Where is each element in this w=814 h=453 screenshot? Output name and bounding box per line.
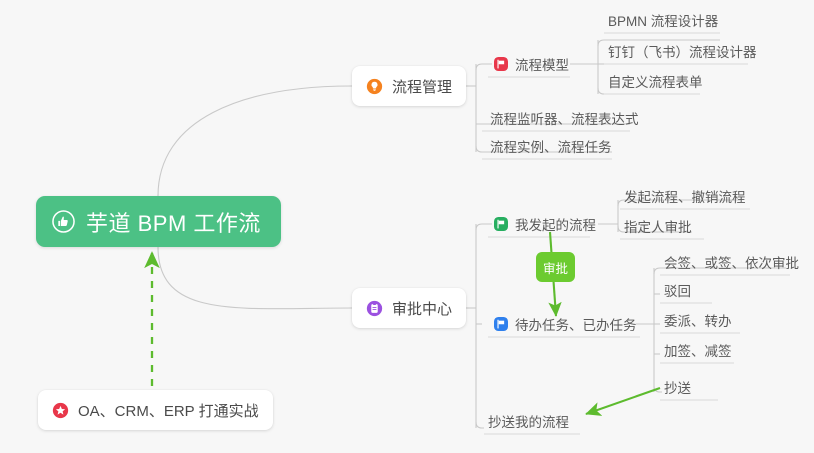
flag-icon — [494, 217, 508, 231]
node-label-bpmn-designer: BPMN 流程设计器 — [608, 10, 718, 30]
node-bpmn-designer[interactable]: BPMN 流程设计器 — [604, 7, 724, 33]
node-label-my-initiated-processes: 我发起的流程 — [515, 214, 596, 234]
root-label: 芋道 BPM 工作流 — [86, 206, 261, 238]
integration-note-card[interactable]: OA、CRM、ERP 打通实战 — [38, 390, 273, 430]
branch-label-approval-center: 审批中心 — [392, 298, 452, 319]
node-label-reject: 驳回 — [664, 280, 691, 300]
node-assignee-approval[interactable]: 指定人审批 — [620, 213, 698, 239]
node-label-instance-task: 流程实例、流程任务 — [490, 136, 612, 156]
lightbulb-icon — [366, 78, 383, 95]
node-label-assignee-approval: 指定人审批 — [624, 216, 692, 236]
node-label-cc-to-me-processes: 抄送我的流程 — [488, 411, 569, 431]
node-label-add-remove-sign: 加签、减签 — [664, 340, 732, 360]
node-start-cancel-process[interactable]: 发起流程、撤销流程 — [620, 183, 752, 209]
node-instance-task[interactable]: 流程实例、流程任务 — [486, 133, 618, 159]
node-cc[interactable]: 抄送 — [660, 374, 697, 400]
clipboard-icon — [366, 300, 383, 317]
node-label-delegate-transfer: 委派、转办 — [664, 310, 732, 330]
node-label-custom-form: 自定义流程表单 — [608, 71, 703, 91]
node-label-countersign: 会签、或签、依次审批 — [664, 252, 799, 272]
mindmap-canvas: 芋道 BPM 工作流 流程管理 流程模型 BPMN 流程设计器 钉钉（飞书）流程 — [0, 0, 814, 453]
node-my-initiated-processes[interactable]: 我发起的流程 — [490, 211, 602, 237]
node-label-listener-expression: 流程监听器、流程表达式 — [490, 108, 639, 128]
branch-node-flow-management[interactable]: 流程管理 — [352, 66, 466, 106]
node-reject[interactable]: 驳回 — [660, 277, 697, 303]
branch-node-approval-center[interactable]: 审批中心 — [352, 288, 466, 328]
node-todo-done-tasks[interactable]: 待办任务、已办任务 — [490, 311, 643, 337]
node-flow-model[interactable]: 流程模型 — [490, 51, 575, 77]
flag-icon — [494, 317, 508, 331]
node-custom-form[interactable]: 自定义流程表单 — [604, 68, 709, 94]
node-label-cc: 抄送 — [664, 377, 691, 397]
node-listener-expression[interactable]: 流程监听器、流程表达式 — [486, 105, 645, 131]
branch-label-flow-management: 流程管理 — [392, 76, 452, 97]
node-label-flow-model: 流程模型 — [515, 54, 569, 74]
node-delegate-transfer[interactable]: 委派、转办 — [660, 307, 738, 333]
integration-note-label: OA、CRM、ERP 打通实战 — [78, 400, 259, 421]
approval-annotation-badge: 审批 — [536, 252, 575, 282]
thumbs-up-icon — [52, 210, 75, 233]
node-dingtalk-designer[interactable]: 钉钉（飞书）流程设计器 — [604, 38, 763, 64]
node-cc-to-me-processes[interactable]: 抄送我的流程 — [484, 408, 575, 434]
node-countersign[interactable]: 会签、或签、依次审批 — [660, 249, 805, 275]
flag-icon — [494, 57, 508, 71]
root-node[interactable]: 芋道 BPM 工作流 — [36, 196, 281, 247]
approval-annotation-label: 审批 — [543, 258, 568, 277]
star-icon — [52, 402, 69, 419]
node-label-start-cancel-process: 发起流程、撤销流程 — [624, 186, 746, 206]
node-label-todo-done-tasks: 待办任务、已办任务 — [515, 314, 637, 334]
node-add-remove-sign[interactable]: 加签、减签 — [660, 337, 738, 363]
node-label-dingtalk-designer: 钉钉（飞书）流程设计器 — [608, 41, 757, 61]
